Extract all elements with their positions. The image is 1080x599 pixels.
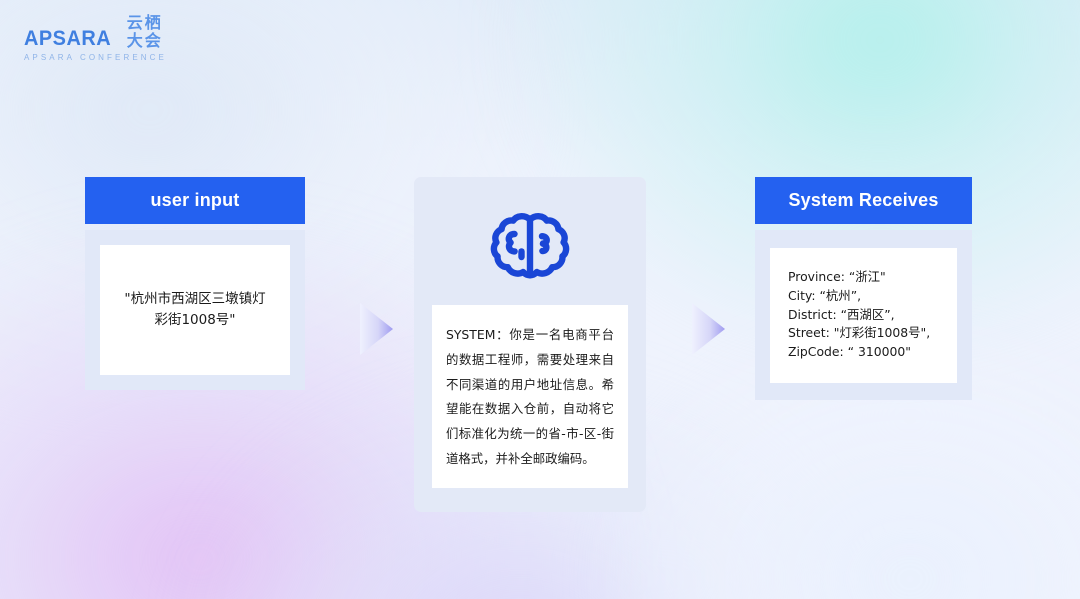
brain-icon <box>490 210 570 282</box>
user-input-text: "杭州市西湖区三墩镇灯彩街1008号" <box>120 289 270 331</box>
system-receives-column: System Receives Province: “浙江"City: “杭州”… <box>755 177 972 400</box>
arrow-model-to-output-icon <box>692 303 726 355</box>
system-receives-card: Province: “浙江"City: “杭州”,District: “西湖区”… <box>770 248 957 383</box>
user-input-card: "杭州市西湖区三墩镇灯彩街1008号" <box>100 245 290 375</box>
system-output-line: Street: "灯彩街1008号", <box>788 324 930 343</box>
user-input-header: user input <box>85 177 305 224</box>
flow-diagram: user input "杭州市西湖区三墩镇灯彩街1008号" <box>0 0 1080 599</box>
model-processing-panel: SYSTEM：你是一名电商平台的数据工程师，需要处理来自不同渠道的用户地址信息。… <box>414 177 646 512</box>
system-output-line: District: “西湖区”, <box>788 306 930 325</box>
system-receives-panel: Province: “浙江"City: “杭州”,District: “西湖区”… <box>755 230 972 400</box>
system-output-line: City: “杭州”, <box>788 287 930 306</box>
system-output-text: Province: “浙江"City: “杭州”,District: “西湖区”… <box>788 268 930 362</box>
system-prompt-text: SYSTEM：你是一名电商平台的数据工程师，需要处理来自不同渠道的用户地址信息。… <box>446 323 614 472</box>
system-output-line: ZipCode: “ 310000" <box>788 343 930 362</box>
system-prompt-card: SYSTEM：你是一名电商平台的数据工程师，需要处理来自不同渠道的用户地址信息。… <box>432 305 628 488</box>
arrow-input-to-model-icon <box>360 303 394 355</box>
user-input-column: user input "杭州市西湖区三墩镇灯彩街1008号" <box>85 177 305 390</box>
system-receives-header: System Receives <box>755 177 972 224</box>
system-output-line: Province: “浙江" <box>788 268 930 287</box>
user-input-panel: "杭州市西湖区三墩镇灯彩街1008号" <box>85 230 305 390</box>
